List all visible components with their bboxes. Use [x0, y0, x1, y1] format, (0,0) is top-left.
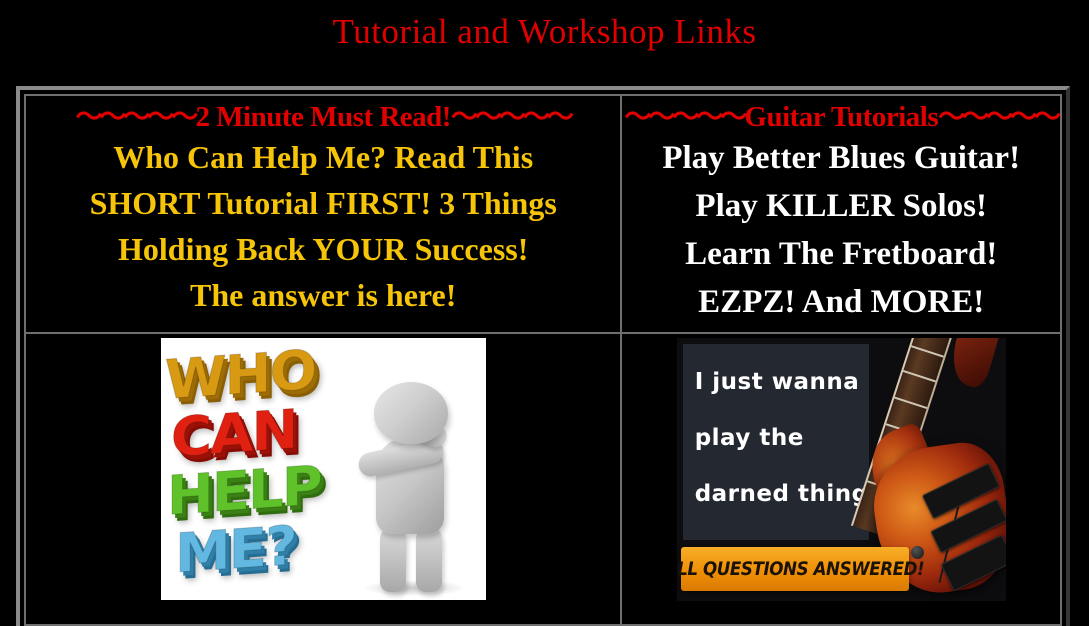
cell-guitar-tutorials-text[interactable]: 〜〜〜〜〜Guitar Tutorials〜〜〜〜〜 Play Better B…	[621, 95, 1061, 333]
guitar-fret	[911, 345, 944, 357]
cell-guitar-image[interactable]: I just wanna play the darned thing!	[621, 333, 1061, 625]
guitar-quote-line-3: darned thing!	[695, 466, 861, 522]
figure-shadow	[364, 580, 464, 596]
banner-label: ALL QUESTIONS ANSWERED!	[677, 558, 925, 580]
page-root: Tutorial and Workshop Links 〜〜〜〜〜2 Minut…	[0, 0, 1089, 626]
guitar-line-2[interactable]: Play KILLER Solos!	[624, 182, 1058, 230]
guitar-line-4[interactable]: EZPZ! And MORE!	[624, 278, 1058, 326]
guitar-line-1[interactable]: Play Better Blues Guitar!	[624, 134, 1058, 182]
thinking-person-3d-figure	[356, 376, 468, 594]
guitar-fret	[903, 370, 936, 382]
guitar-line-3[interactable]: Learn The Fretboard!	[624, 230, 1058, 278]
must-read-headline-text: 2 Minute Must Read!	[195, 101, 451, 133]
table-row-images: WHO CAN HELP ME?	[25, 333, 1061, 625]
links-table: 〜〜〜〜〜2 Minute Must Read!〜〜〜〜〜 Who Can He…	[16, 86, 1070, 626]
must-read-line-1[interactable]: Who Can Help Me? Read This	[28, 134, 618, 180]
squiggle-left-icon: 〜〜〜〜〜	[75, 102, 195, 132]
must-read-headline: 〜〜〜〜〜2 Minute Must Read!〜〜〜〜〜	[28, 100, 618, 134]
must-read-line-4[interactable]: The answer is here!	[28, 272, 618, 318]
guitar-tutorials-text-block: 〜〜〜〜〜Guitar Tutorials〜〜〜〜〜 Play Better B…	[622, 96, 1060, 326]
cell-who-can-help-image[interactable]: WHO CAN HELP ME?	[25, 333, 621, 625]
must-read-text-block: 〜〜〜〜〜2 Minute Must Read!〜〜〜〜〜 Who Can He…	[26, 96, 620, 318]
figure-leg-left	[380, 526, 406, 592]
guitar-quote-line-2: play the	[695, 410, 861, 466]
guitar-headstock	[945, 338, 1003, 390]
guitar-quote-card: I just wanna play the darned thing!	[683, 344, 869, 540]
guitar-image-wrap: I just wanna play the darned thing!	[622, 334, 1060, 624]
all-questions-answered-banner: ALL QUESTIONS ANSWERED!	[681, 547, 909, 591]
who-can-help-word-stack: WHO CAN HELP ME?	[169, 344, 379, 576]
links-table-inner: 〜〜〜〜〜2 Minute Must Read!〜〜〜〜〜 Who Can He…	[24, 94, 1062, 626]
who-can-help-me-3d-graphic[interactable]: WHO CAN HELP ME?	[161, 338, 486, 600]
must-read-line-3[interactable]: Holding Back YOUR Success!	[28, 226, 618, 272]
word-me: ME?	[175, 511, 383, 584]
guitar-fret	[894, 397, 927, 409]
guitar-tutorials-headline-text: Guitar Tutorials	[744, 101, 938, 133]
guitar-tutorials-headline: 〜〜〜〜〜Guitar Tutorials〜〜〜〜〜	[624, 100, 1058, 134]
i-just-wanna-play-guitar-graphic[interactable]: I just wanna play the darned thing!	[677, 338, 1006, 601]
figure-leg-right	[416, 526, 442, 592]
figure-head	[374, 382, 448, 444]
squiggle-left-icon: 〜〜〜〜〜	[624, 102, 744, 132]
table-row-headlines: 〜〜〜〜〜2 Minute Must Read!〜〜〜〜〜 Who Can He…	[25, 95, 1061, 333]
must-read-line-2[interactable]: SHORT Tutorial FIRST! 3 Things	[28, 180, 618, 226]
squiggle-right-icon: 〜〜〜〜〜	[938, 102, 1058, 132]
squiggle-right-icon: 〜〜〜〜〜	[451, 102, 571, 132]
guitar-quote-line-1: I just wanna	[695, 354, 861, 410]
page-title: Tutorial and Workshop Links	[0, 10, 1089, 54]
cell-must-read-text[interactable]: 〜〜〜〜〜2 Minute Must Read!〜〜〜〜〜 Who Can He…	[25, 95, 621, 333]
who-can-help-image-wrap: WHO CAN HELP ME?	[26, 334, 620, 624]
